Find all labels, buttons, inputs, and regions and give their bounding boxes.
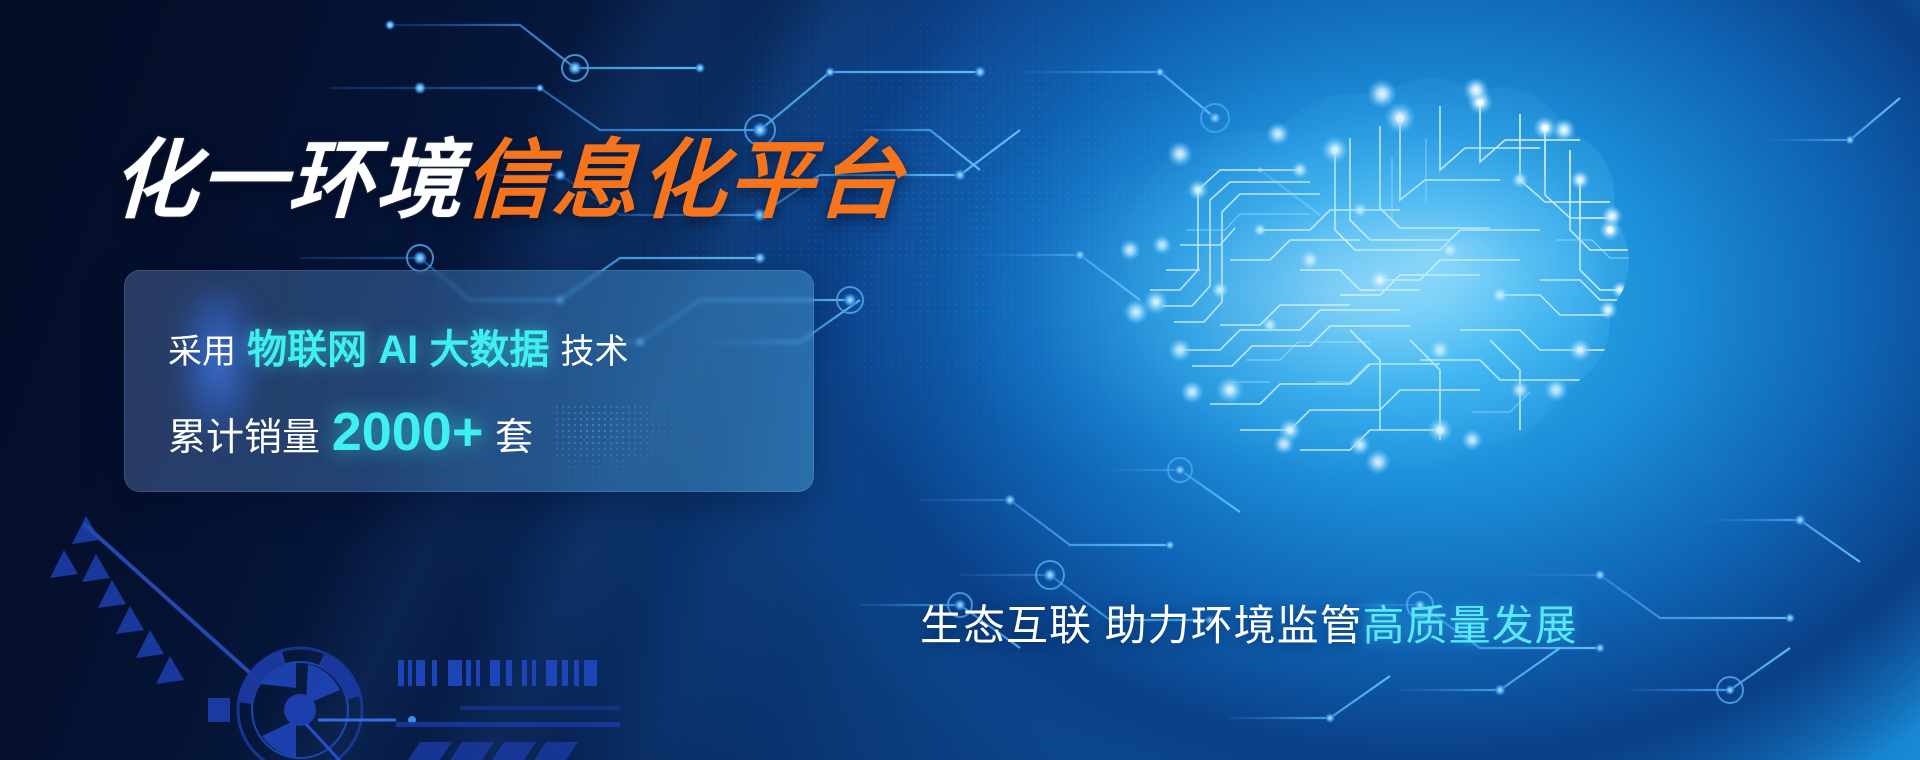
brain-glow <box>940 70 1600 520</box>
chevron-arrow-icon <box>50 516 258 684</box>
sales-number: 2000+ <box>332 402 484 462</box>
feature-line-sales: 累计销量 2000+ 套 <box>168 405 533 459</box>
tech-hud-graphic <box>0 510 620 760</box>
banner-headline: 化一环境信息化平台 <box>110 138 905 224</box>
feature-suffix: 技术 <box>560 333 628 371</box>
feature-highlight: 物联网 AI 大数据 <box>247 328 549 372</box>
brain-circuit-svg <box>880 30 1660 550</box>
headline-white-part: 化一环境 <box>110 133 465 229</box>
hud-lower-bars <box>396 706 620 760</box>
sales-prefix: 累计销量 <box>168 417 320 459</box>
feature-line-technology: 采用 物联网 AI 大数据 技术 <box>168 330 628 370</box>
card-speckle-texture <box>554 404 684 482</box>
tagline-cyan-part: 高质量发展 <box>1363 602 1578 649</box>
feature-prefix: 采用 <box>168 333 236 371</box>
hero-banner: 化一环境信息化平台 采用 物联网 AI 大数据 技术 累计销量 2000+ 套 … <box>0 0 1920 760</box>
hud-barcode-marks <box>398 660 597 686</box>
hud-dial-icon <box>208 648 416 760</box>
sales-unit: 套 <box>495 417 533 459</box>
tagline-white-part: 生态互联 助力环境监管 <box>920 602 1363 649</box>
headline-orange-part: 信息化平台 <box>462 133 905 229</box>
digital-brain-graphic <box>880 30 1660 550</box>
banner-tagline: 生态互联 助力环境监管高质量发展 <box>920 592 1578 653</box>
features-card: 采用 物联网 AI 大数据 技术 累计销量 2000+ 套 <box>124 270 814 492</box>
